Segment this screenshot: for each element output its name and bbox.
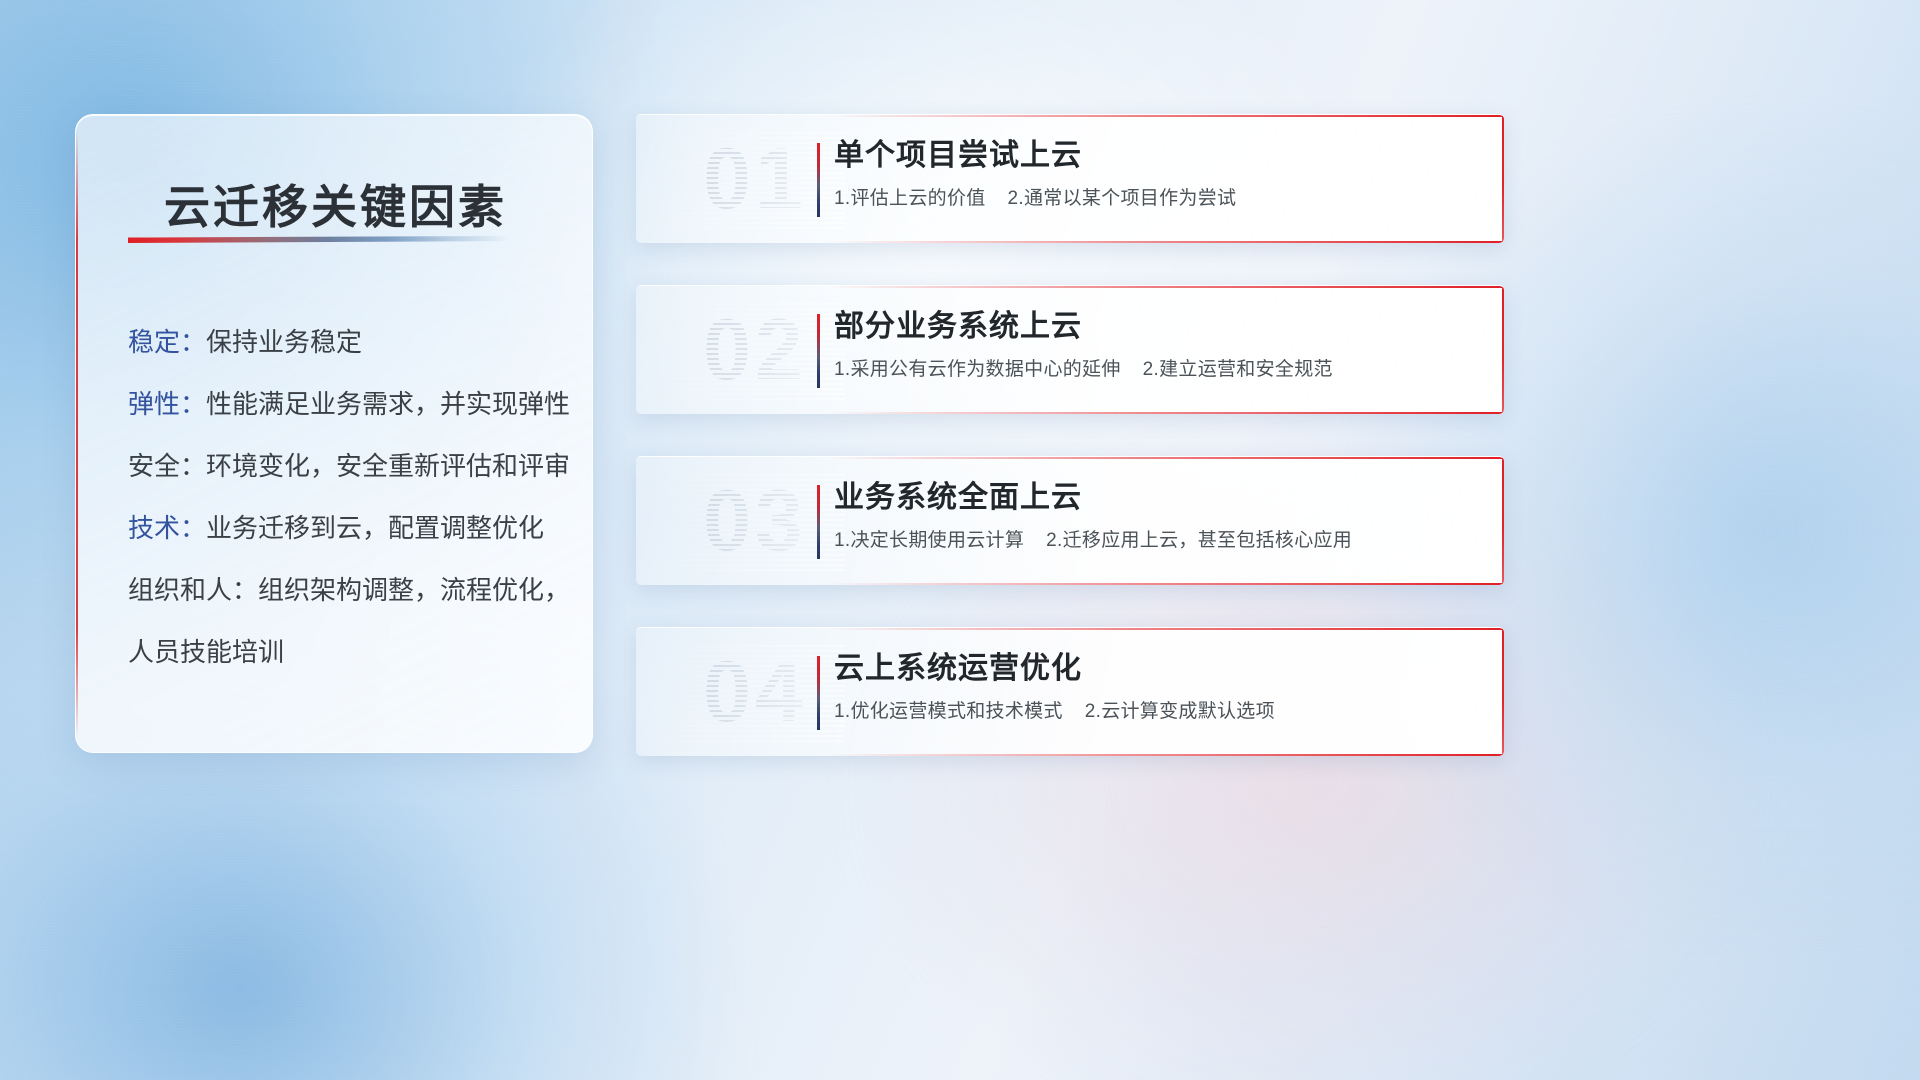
stage-point: 2.通常以某个项目作为尝试	[1008, 188, 1237, 209]
stage-point: 2.云计算变成默认选项	[1085, 701, 1275, 722]
factor-value: 业务迁移到云，配置调整优化	[206, 513, 544, 543]
factor-row: 组织和人：组织架构调整，流程优化，	[128, 559, 566, 621]
factor-label: 弹性：	[128, 389, 206, 419]
stage-point: 1.评估上云的价值	[834, 188, 986, 209]
card-top-accent	[827, 457, 1504, 459]
stage-point: 2.迁移应用上云，甚至包括核心应用	[1046, 530, 1352, 551]
stage-divider-bar	[817, 314, 820, 388]
stage-card[interactable]: 03业务系统全面上云1.决定长期使用云计算2.迁移应用上云，甚至包括核心应用	[636, 456, 1504, 585]
card-bottom-accent	[827, 412, 1504, 414]
factor-value: 环境变化，安全重新评估和评审	[206, 451, 570, 481]
stage-card[interactable]: 01单个项目尝试上云1.评估上云的价值2.通常以某个项目作为尝试	[636, 114, 1504, 243]
key-factors-panel: 云迁移关键因素 稳定：保持业务稳定弹性：性能满足业务需求，并实现弹性安全：环境变…	[75, 114, 593, 753]
card-right-accent	[1502, 628, 1504, 756]
card-bottom-accent	[827, 241, 1504, 243]
factor-value: 组织架构调整，流程优化，	[258, 575, 570, 605]
factor-value: 人员技能培训	[128, 637, 284, 667]
factor-label: 稳定：	[128, 327, 206, 357]
factor-row: 人员技能培训	[128, 621, 566, 683]
card-top-accent	[827, 286, 1504, 288]
card-top-accent	[827, 115, 1504, 117]
stage-description: 1.决定长期使用云计算2.迁移应用上云，甚至包括核心应用	[834, 527, 1480, 555]
stage-title: 业务系统全面上云	[834, 475, 1480, 521]
card-right-accent	[1502, 286, 1504, 414]
card-bottom-accent	[827, 754, 1504, 756]
factor-value: 保持业务稳定	[206, 327, 362, 357]
stage-body: 部分业务系统上云1.采用公有云作为数据中心的延伸2.建立运营和安全规范	[834, 304, 1480, 384]
stage-divider-bar	[817, 143, 820, 217]
stage-title: 单个项目尝试上云	[834, 133, 1480, 179]
stage-description: 1.优化运营模式和技术模式2.云计算变成默认选项	[834, 698, 1480, 726]
page-title: 云迁移关键因素	[164, 171, 507, 237]
factor-label: 组织和人：	[128, 575, 258, 605]
factor-list: 稳定：保持业务稳定弹性：性能满足业务需求，并实现弹性安全：环境变化，安全重新评估…	[128, 311, 566, 683]
stage-point: 1.采用公有云作为数据中心的延伸	[834, 359, 1121, 380]
card-bottom-accent	[827, 583, 1504, 585]
card-right-accent	[1502, 115, 1504, 243]
factor-row: 安全：环境变化，安全重新评估和评审	[128, 435, 566, 497]
factor-label: 技术：	[128, 513, 206, 543]
stage-body: 业务系统全面上云1.决定长期使用云计算2.迁移应用上云，甚至包括核心应用	[834, 475, 1480, 555]
stage-title: 部分业务系统上云	[834, 304, 1480, 350]
card-top-accent	[827, 628, 1504, 630]
card-right-accent	[1502, 457, 1504, 585]
stage-card[interactable]: 04云上系统运营优化1.优化运营模式和技术模式2.云计算变成默认选项	[636, 627, 1504, 756]
stage-body: 云上系统运营优化1.优化运营模式和技术模式2.云计算变成默认选项	[834, 646, 1480, 726]
stage-point: 2.建立运营和安全规范	[1143, 359, 1333, 380]
title-underline-gradient	[128, 236, 510, 243]
stage-divider-bar	[817, 656, 820, 730]
stage-description: 1.评估上云的价值2.通常以某个项目作为尝试	[834, 185, 1480, 213]
stage-body: 单个项目尝试上云1.评估上云的价值2.通常以某个项目作为尝试	[834, 133, 1480, 213]
panel-left-accent-bar	[76, 129, 78, 738]
stage-point: 1.决定长期使用云计算	[834, 530, 1024, 551]
factor-value: 性能满足业务需求，并实现弹性	[206, 389, 570, 419]
stage-title: 云上系统运营优化	[834, 646, 1480, 692]
factor-row: 稳定：保持业务稳定	[128, 311, 566, 373]
stage-point: 1.优化运营模式和技术模式	[834, 701, 1063, 722]
stage-description: 1.采用公有云作为数据中心的延伸2.建立运营和安全规范	[834, 356, 1480, 384]
factor-label: 安全：	[128, 451, 206, 481]
factor-row: 技术：业务迁移到云，配置调整优化	[128, 497, 566, 559]
stage-divider-bar	[817, 485, 820, 559]
stage-card[interactable]: 02部分业务系统上云1.采用公有云作为数据中心的延伸2.建立运营和安全规范	[636, 285, 1504, 414]
factor-row: 弹性：性能满足业务需求，并实现弹性	[128, 373, 566, 435]
